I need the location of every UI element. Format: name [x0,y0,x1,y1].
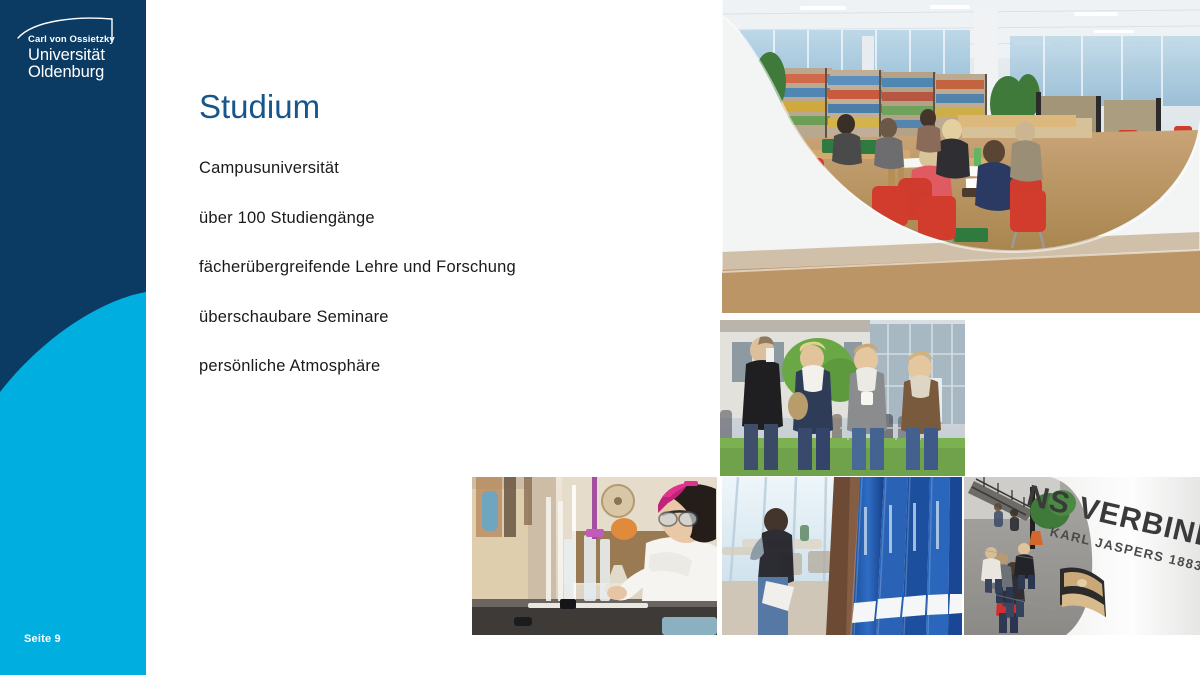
content-block: Studium Campusuniversität über 100 Studi… [199,90,699,375]
logo-line-carl-von-ossietzky: Carl von Ossietzky [28,35,128,45]
slide: Carl von Ossietzky Universität Oldenburg… [0,0,1200,675]
bullet-item: persönliche Atmosphäre [199,358,699,375]
bullet-item: fächerübergreifende Lehre und Forschung [199,259,699,276]
page-title: Studium [199,90,699,123]
logo-wordmark: Carl von Ossietzky Universität Oldenburg [28,35,128,81]
photo-chemistry-lab [472,477,717,635]
logo-line-universitaet: Universität [28,47,128,64]
sidebar: Carl von Ossietzky Universität Oldenburg… [0,0,146,675]
page-number: Seite 9 [24,633,61,645]
photo-library-book-spines [722,477,962,635]
university-logo: Carl von Ossietzky Universität Oldenburg [16,14,128,76]
photo-students-outdoors [720,320,965,476]
bullet-item: Campusuniversität [199,160,699,177]
bullet-item: über 100 Studiengänge [199,210,699,227]
bullet-item: überschaubare Seminare [199,309,699,326]
logo-line-oldenburg: Oldenburg [28,64,128,81]
photo-library-reading-room [722,0,1200,313]
photo-campus-atrium-lettering: NS VERBINDET KARL JASPERS 1883 - 1969 [964,477,1200,635]
